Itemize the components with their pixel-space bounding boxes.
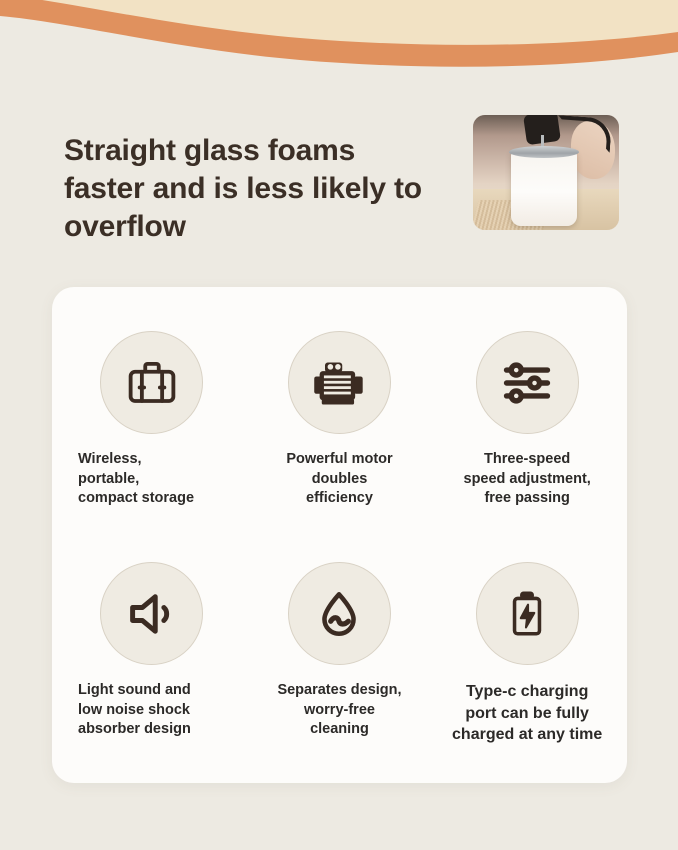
feature-item-portable: Wireless, portable, compact storage bbox=[58, 311, 246, 542]
feature-item-motor: Powerful motor doubles efficiency bbox=[246, 311, 434, 542]
feature-item-low-noise: Light sound and low noise shock absorber… bbox=[58, 542, 246, 773]
battery-charging-icon bbox=[476, 562, 579, 665]
briefcase-icon bbox=[100, 331, 203, 434]
low-volume-speaker-icon bbox=[100, 562, 203, 665]
feature-caption: Powerful motor doubles efficiency bbox=[286, 450, 392, 509]
hero-glass-cup bbox=[511, 150, 577, 226]
water-droplet-icon bbox=[288, 562, 391, 665]
hero-glass-rim bbox=[509, 146, 579, 158]
feature-card: Wireless, portable, compact storage bbox=[52, 287, 627, 783]
header-section: Straight glass foams faster and is less … bbox=[0, 110, 678, 240]
sliders-icon bbox=[476, 331, 579, 434]
feature-caption: Wireless, portable, compact storage bbox=[78, 450, 194, 509]
feature-item-three-speed: Three-speed speed adjustment, free passi… bbox=[433, 311, 621, 542]
feature-caption: Type-c charging port can be fully charge… bbox=[452, 681, 602, 746]
feature-grid: Wireless, portable, compact storage bbox=[52, 287, 627, 783]
feature-item-easy-clean: Separates design, worry-free cleaning bbox=[246, 542, 434, 773]
page-title: Straight glass foams faster and is less … bbox=[64, 132, 464, 245]
feature-caption: Light sound and low noise shock absorber… bbox=[78, 681, 191, 740]
hero-product-image bbox=[473, 115, 619, 230]
feature-item-typec-charging: Type-c charging port can be fully charge… bbox=[433, 542, 621, 773]
electric-motor-icon bbox=[288, 331, 391, 434]
feature-caption: Separates design, worry-free cleaning bbox=[277, 681, 401, 740]
feature-caption: Three-speed speed adjustment, free passi… bbox=[464, 450, 591, 509]
top-decorative-banner bbox=[0, 0, 678, 80]
